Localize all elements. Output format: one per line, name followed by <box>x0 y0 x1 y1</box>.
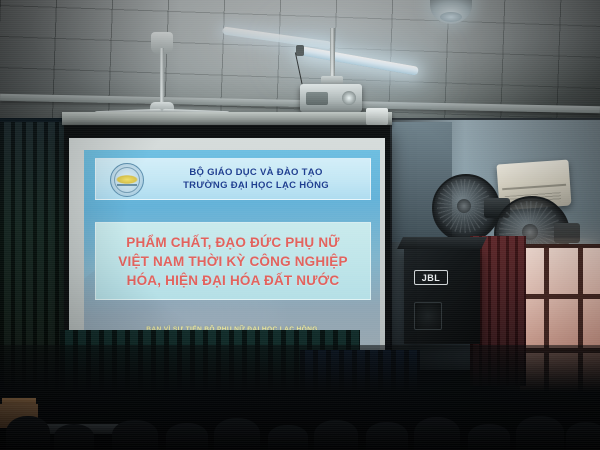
jbl-speaker: JBL <box>404 246 480 344</box>
audience-head <box>54 424 94 450</box>
audience-head <box>6 416 50 450</box>
audience-head <box>366 422 408 450</box>
slide-title-line2: VIỆT NAM THỜI KỲ CÔNG NGHIỆP <box>118 252 347 271</box>
audience-head <box>516 416 564 450</box>
speaker-woofer <box>414 302 442 330</box>
wall-fan-icon <box>432 174 496 238</box>
audience-head <box>112 420 158 450</box>
slide-title-text: PHẨM CHẤT, ĐẠO ĐỨC PHỤ NỮ VIỆT NAM THỜI … <box>118 233 347 290</box>
slide-header-text: BỘ GIÁO DỤC VÀ ĐÀO TẠO TRƯỜNG ĐẠI HỌC LẠ… <box>148 166 364 192</box>
slide-title-line3: HÓA, HIỆN ĐẠI HÓA ĐẤT NƯỚC <box>118 271 347 290</box>
slide-title-line1: PHẨM CHẤT, ĐẠO ĐỨC PHỤ NỮ <box>118 233 347 252</box>
speaker-top <box>397 237 487 249</box>
ac-seam <box>502 184 566 190</box>
projector-lens <box>342 91 356 105</box>
jbl-logo: JBL <box>414 270 448 285</box>
audience-head <box>468 424 510 450</box>
university-seal-icon <box>110 163 144 197</box>
fan-hub <box>457 199 471 213</box>
audience-head <box>314 420 358 450</box>
ceiling-projector-icon <box>300 84 362 112</box>
tube-end-cap <box>296 45 304 56</box>
audience-head <box>268 425 308 450</box>
audience-head <box>214 418 260 450</box>
audience-head <box>414 417 460 450</box>
roller-end-cap <box>366 108 388 125</box>
auditorium-photo: JBL BỘ GIÁO DỤC VÀ ĐÀO TẠO TRƯỜNG ĐẠI HỌ… <box>0 0 600 450</box>
audience-head <box>566 422 600 450</box>
fan-rod <box>160 48 164 104</box>
slide-header-band: BỘ GIÁO DỤC VÀ ĐÀO TẠO TRƯỜNG ĐẠI HỌC LẠ… <box>95 158 371 200</box>
lamp-bulb <box>440 12 462 22</box>
slide-header-line2: TRƯỜNG ĐẠI HỌC LẠC HỒNG <box>148 179 364 192</box>
audience-head <box>166 423 208 450</box>
seal-bar <box>117 184 137 186</box>
projector-vent <box>306 92 328 105</box>
projection-screen-roller <box>62 112 392 125</box>
window-mullion <box>520 294 600 299</box>
slide-title-band: PHẨM CHẤT, ĐẠO ĐỨC PHỤ NỮ VIỆT NAM THỜI … <box>95 222 371 300</box>
slide-header-line1: BỘ GIÁO DỤC VÀ ĐÀO TẠO <box>148 166 364 179</box>
seal-emblem <box>116 175 138 184</box>
